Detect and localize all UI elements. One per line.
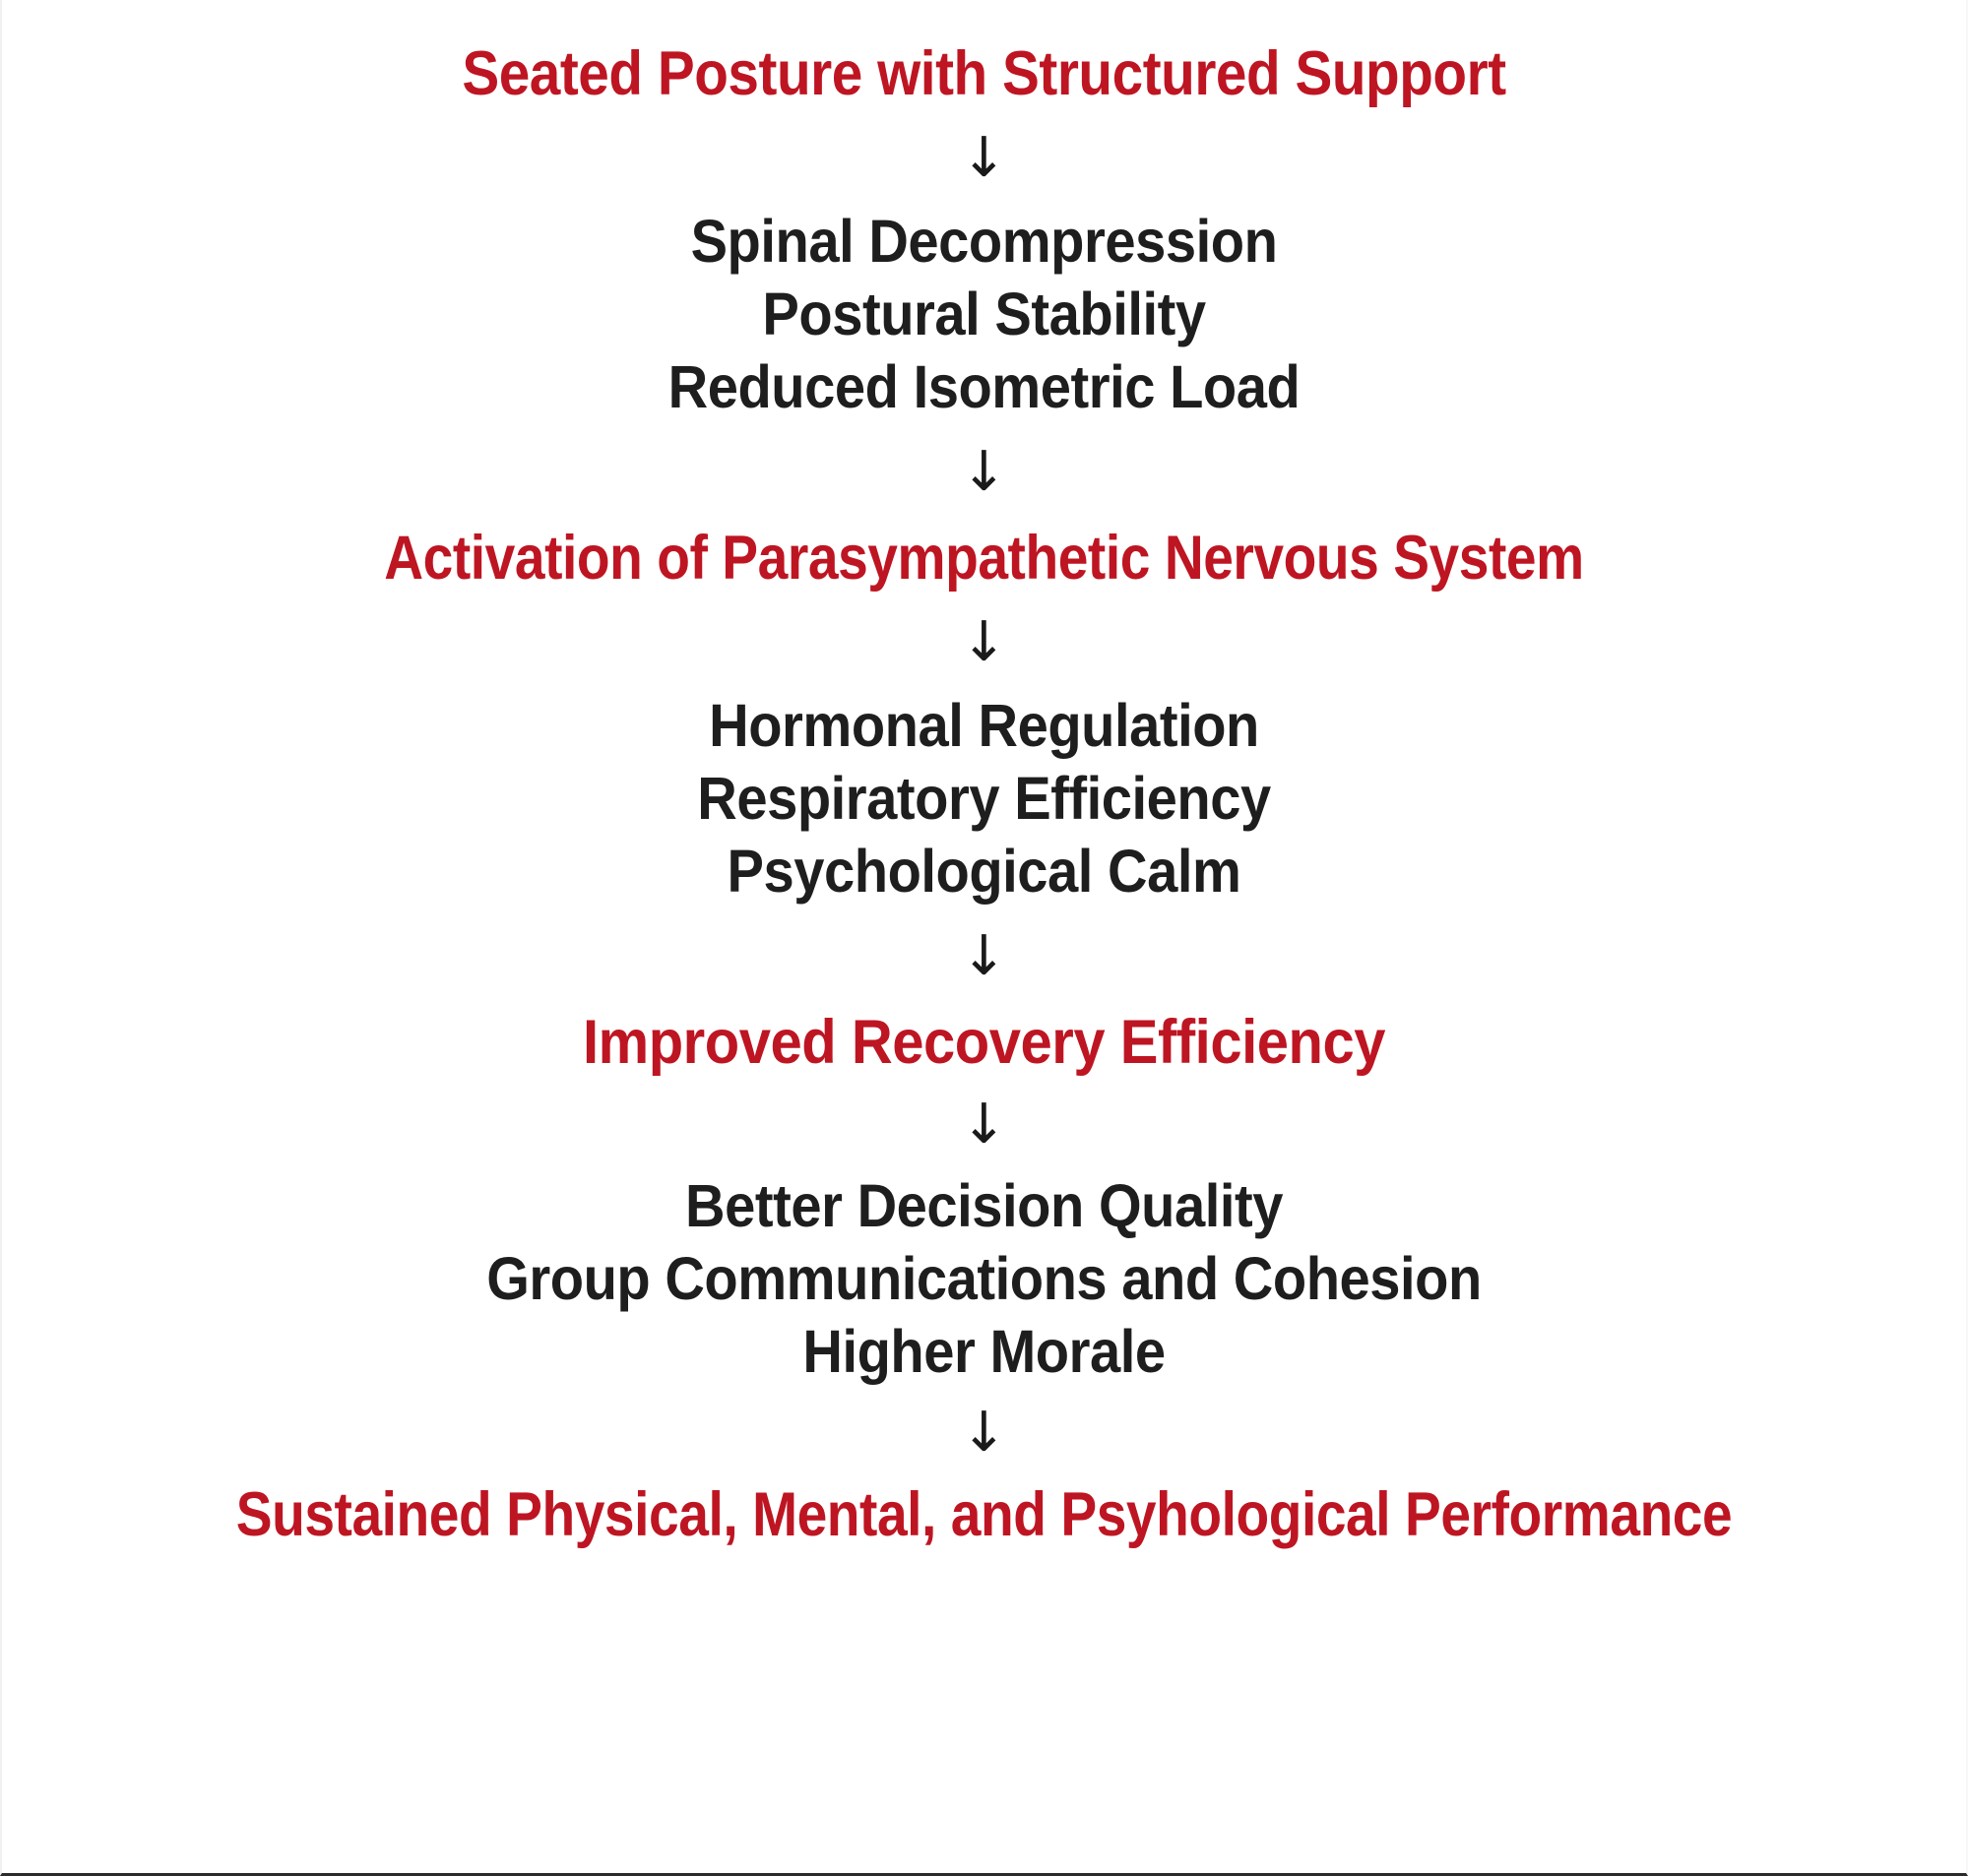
flow-node-line: Hormonal Regulation (81, 696, 1887, 756)
flow-node-sustained-performance: Sustained Physical, Mental, and Psyholog… (2, 1484, 1966, 1546)
flow-node-line: Sustained Physical, Mental, and Psyholog… (125, 1484, 1844, 1546)
flow-node-line: Better Decision Quality (81, 1176, 1887, 1236)
flowchart: Seated Posture with Structured Support ↓… (2, 0, 1966, 1873)
flowchart-canvas: Seated Posture with Structured Support ↓… (0, 0, 1968, 1876)
flow-node-line: Activation of Parasympathetic Nervous Sy… (125, 528, 1844, 590)
flow-node-line: Seated Posture with Structured Support (100, 43, 1869, 105)
flow-node-line: Group Communications and Cohesion (81, 1249, 1887, 1309)
flow-node-line: Respiratory Efficiency (81, 769, 1887, 829)
flow-node-seated-posture: Seated Posture with Structured Support (2, 43, 1966, 105)
flow-node-line: Postural Stability (81, 284, 1887, 344)
down-arrow-icon: ↓ (2, 1406, 1966, 1461)
flow-node-line: Reduced Isometric Load (81, 357, 1887, 417)
down-arrow-icon: ↓ (2, 445, 1966, 500)
flow-node-line: Improved Recovery Efficiency (81, 1012, 1887, 1074)
down-arrow-icon: ↓ (2, 615, 1966, 670)
flow-node-line: Spinal Decompression (81, 212, 1887, 272)
down-arrow-icon: ↓ (2, 1097, 1966, 1153)
flow-node-line: Higher Morale (81, 1322, 1887, 1382)
down-arrow-icon: ↓ (2, 929, 1966, 984)
flow-node-team-outcomes: Better Decision Quality Group Communicat… (2, 1176, 1966, 1382)
flow-node-physiological-effects: Hormonal Regulation Respiratory Efficien… (2, 696, 1966, 902)
down-arrow-icon: ↓ (2, 131, 1966, 186)
flow-node-recovery-efficiency: Improved Recovery Efficiency (2, 1012, 1966, 1074)
flow-node-mechanical-effects: Spinal Decompression Postural Stability … (2, 212, 1966, 417)
flow-node-line: Psychological Calm (81, 842, 1887, 902)
flow-node-parasympathetic-activation: Activation of Parasympathetic Nervous Sy… (2, 528, 1966, 590)
